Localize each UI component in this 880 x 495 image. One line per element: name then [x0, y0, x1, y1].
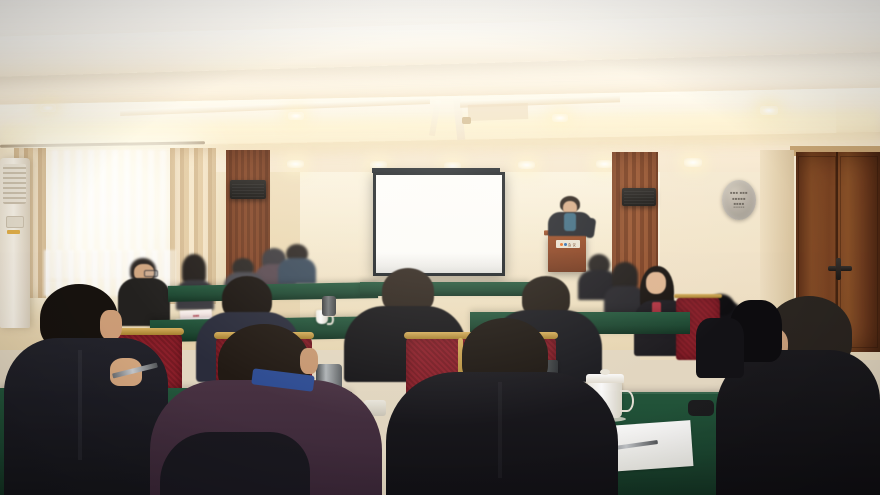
air-conditioner [0, 158, 30, 328]
attendee-shoulder [160, 432, 310, 495]
teacup-lid [586, 374, 624, 383]
recessed-downlight [552, 114, 568, 122]
attendee-suit [386, 372, 618, 495]
attendee-ear-face [100, 310, 122, 340]
ceiling [0, 0, 880, 172]
attendee-body [696, 318, 744, 378]
mug-handle [620, 390, 634, 412]
recessed-downlight [684, 158, 702, 167]
meeting-room-photo: ■■■ ■■■ ■■■■■ ■■■■ ■■■■■■ 会 议 [0, 0, 880, 495]
recessed-downlight [518, 161, 535, 169]
recessed-downlight [596, 160, 613, 168]
attendee-suit [4, 338, 168, 495]
attendee-ear [300, 348, 318, 374]
logo-dot-blue [564, 243, 567, 246]
ac-indicator [7, 230, 20, 234]
lectern-plate-text: 会 议 [568, 242, 576, 247]
screen-surface [376, 175, 502, 273]
plaque-caption: ■■■■■■ [730, 206, 748, 210]
attendee-body [278, 258, 316, 284]
mobile-phone [688, 400, 714, 416]
lectern-logo-plate: 会 议 [556, 240, 580, 248]
ceiling-light-blowout [0, 0, 880, 96]
presenter-shirt [564, 213, 576, 231]
suit-seam [498, 382, 502, 478]
wall-speaker-left [230, 180, 266, 199]
teacup-knob [600, 369, 610, 375]
attendee-glasses [144, 270, 158, 277]
ceiling-recess [468, 103, 529, 121]
suit-seam [78, 350, 82, 460]
attendee-jacket [118, 278, 170, 326]
recessed-downlight [40, 104, 56, 112]
projector-mount-icon [462, 117, 471, 124]
attendee-face [646, 272, 666, 294]
steel-thermos [322, 296, 336, 316]
door-handle-plate[interactable] [836, 258, 841, 280]
logo-dot-orange [560, 243, 563, 246]
wall-speaker-right [622, 188, 656, 206]
recessed-downlight [288, 112, 304, 120]
projection-screen [373, 172, 505, 276]
recessed-downlight [287, 160, 304, 168]
recessed-downlight [760, 106, 778, 115]
wall-plaque: ■■■ ■■■ ■■■■■ ■■■■ ■■■■■■ [722, 180, 756, 220]
chair-gold-frame [674, 294, 722, 298]
